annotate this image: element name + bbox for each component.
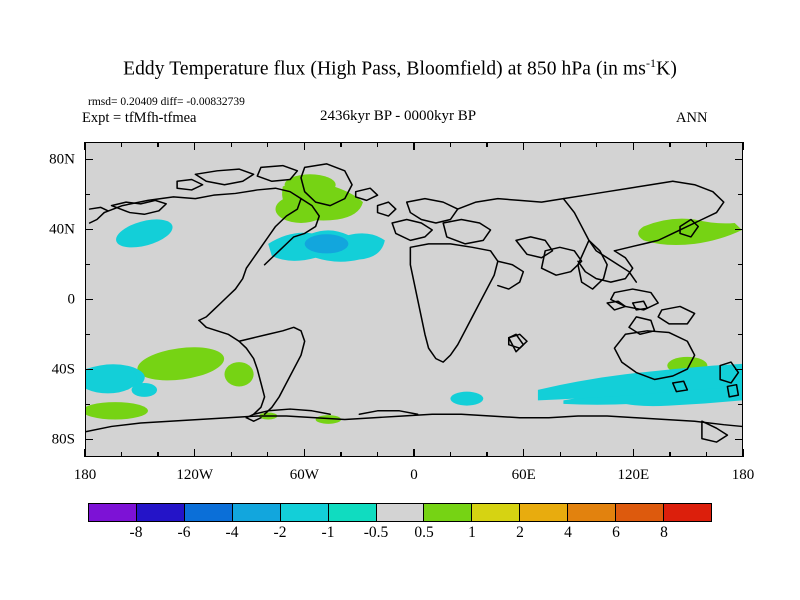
colorbar-tick-label: 0.5 bbox=[414, 524, 433, 542]
y-axis-label: 0 bbox=[68, 291, 76, 308]
colorbar-tick-label: 4 bbox=[564, 524, 572, 542]
colorbar-tick-label: -2 bbox=[274, 524, 287, 542]
x-axis-tick bbox=[340, 452, 341, 457]
x-axis-tick bbox=[450, 142, 451, 147]
x-axis-label: 60E bbox=[512, 467, 536, 484]
y-axis-tick bbox=[738, 264, 743, 265]
y-axis-tick bbox=[85, 404, 90, 405]
x-axis-tick bbox=[84, 142, 85, 150]
colorbar-segment[interactable] bbox=[184, 504, 232, 521]
map-plot-area bbox=[85, 142, 743, 457]
y-axis-tick bbox=[735, 299, 743, 300]
period-annotation: 2436kyr BP - 0000kyr BP bbox=[320, 108, 476, 125]
x-axis-tick bbox=[304, 449, 305, 457]
x-axis-label: 60W bbox=[290, 467, 319, 484]
colorbar-segment[interactable] bbox=[328, 504, 376, 521]
x-axis-tick bbox=[377, 452, 378, 457]
experiment-annotation: Expt = tfMfh-tfmea bbox=[82, 110, 196, 127]
colorbar-segment[interactable] bbox=[423, 504, 471, 521]
y-axis-tick bbox=[735, 229, 743, 230]
x-axis-tick bbox=[304, 142, 305, 150]
x-axis-tick bbox=[121, 142, 122, 147]
y-axis-tick bbox=[735, 369, 743, 370]
title-main: Eddy Temperature flux (High Pass, Bloomf… bbox=[123, 59, 646, 80]
y-axis-tick bbox=[85, 439, 93, 440]
x-axis-label: 0 bbox=[410, 467, 418, 484]
colorbar-segment[interactable] bbox=[280, 504, 328, 521]
y-axis-tick bbox=[85, 334, 90, 335]
x-axis-tick bbox=[377, 142, 378, 147]
y-axis-label: 40S bbox=[52, 361, 75, 378]
x-axis-tick bbox=[267, 142, 268, 147]
colorbar-tick-label: 2 bbox=[516, 524, 524, 542]
x-axis-tick bbox=[486, 142, 487, 147]
x-axis-label: 180 bbox=[732, 467, 755, 484]
y-axis-tick bbox=[738, 334, 743, 335]
y-axis-tick bbox=[85, 299, 93, 300]
x-axis-label: 120W bbox=[176, 467, 213, 484]
colorbar-tick-label: -0.5 bbox=[364, 524, 389, 542]
title-superscript: -1 bbox=[646, 56, 656, 70]
x-axis-tick bbox=[267, 452, 268, 457]
colorbar-segment[interactable] bbox=[471, 504, 519, 521]
colorbar-segment[interactable] bbox=[663, 504, 711, 521]
x-axis-label: 120E bbox=[617, 467, 649, 484]
x-axis-tick bbox=[669, 452, 670, 457]
colorbar-segment[interactable] bbox=[615, 504, 663, 521]
x-axis-tick bbox=[157, 142, 158, 147]
x-axis-tick bbox=[231, 452, 232, 457]
x-axis-tick bbox=[450, 452, 451, 457]
title-tail: K) bbox=[656, 59, 677, 80]
season-annotation: ANN bbox=[676, 110, 707, 127]
colorbar-segment[interactable] bbox=[519, 504, 567, 521]
x-axis-tick bbox=[742, 449, 743, 457]
x-axis-tick bbox=[194, 142, 195, 150]
x-axis-tick bbox=[486, 452, 487, 457]
x-axis-tick bbox=[596, 142, 597, 147]
page-title: Eddy Temperature flux (High Pass, Bloomf… bbox=[0, 56, 800, 81]
colorbar-tick-label: -1 bbox=[322, 524, 335, 542]
filled-contour-regions bbox=[86, 174, 742, 424]
y-axis-label: 80N bbox=[49, 151, 75, 168]
colorbar-segment[interactable] bbox=[567, 504, 615, 521]
x-axis-tick bbox=[706, 142, 707, 147]
x-axis-tick bbox=[633, 449, 634, 457]
colorbar-tick-label: 8 bbox=[660, 524, 668, 542]
y-axis-label: 40N bbox=[49, 221, 75, 238]
x-axis-tick bbox=[231, 142, 232, 147]
colorbar-tick-label: 6 bbox=[612, 524, 620, 542]
y-axis-tick bbox=[738, 194, 743, 195]
x-axis-tick bbox=[340, 142, 341, 147]
x-axis-tick bbox=[633, 142, 634, 150]
y-axis-tick bbox=[738, 404, 743, 405]
colorbar-segment[interactable] bbox=[89, 504, 136, 521]
world-map-svg bbox=[86, 143, 742, 456]
x-axis-tick bbox=[742, 142, 743, 150]
x-axis-tick bbox=[157, 452, 158, 457]
colorbar-segment[interactable] bbox=[232, 504, 280, 521]
x-axis-tick bbox=[413, 142, 414, 150]
x-axis-tick bbox=[194, 449, 195, 457]
colorbar-tick-label: -4 bbox=[226, 524, 239, 542]
y-axis-tick bbox=[85, 264, 90, 265]
x-axis-tick bbox=[121, 452, 122, 457]
x-axis-tick bbox=[669, 142, 670, 147]
x-axis-label: 180 bbox=[74, 467, 97, 484]
y-axis-tick bbox=[735, 439, 743, 440]
colorbar-segment[interactable] bbox=[136, 504, 184, 521]
x-axis-tick bbox=[706, 452, 707, 457]
x-axis-tick bbox=[523, 142, 524, 150]
x-axis-tick bbox=[84, 449, 85, 457]
y-axis-tick bbox=[735, 159, 743, 160]
y-axis-tick bbox=[85, 229, 93, 230]
y-axis-tick bbox=[85, 159, 93, 160]
colorbar-tick-label: 1 bbox=[468, 524, 476, 542]
colorbar[interactable] bbox=[88, 503, 712, 522]
colorbar-tick-label: -6 bbox=[178, 524, 191, 542]
x-axis-tick bbox=[413, 449, 414, 457]
y-axis-label: 80S bbox=[52, 431, 75, 448]
figure-canvas: Eddy Temperature flux (High Pass, Bloomf… bbox=[0, 0, 800, 600]
x-axis-tick bbox=[560, 452, 561, 457]
stats-annotation: rmsd= 0.20409 diff= -0.00832739 bbox=[88, 96, 245, 108]
y-axis-tick bbox=[85, 369, 93, 370]
colorbar-segment[interactable] bbox=[376, 504, 424, 521]
colorbar-tick-label: -8 bbox=[130, 524, 143, 542]
x-axis-tick bbox=[523, 449, 524, 457]
x-axis-tick bbox=[596, 452, 597, 457]
y-axis-tick bbox=[85, 194, 90, 195]
x-axis-tick bbox=[560, 142, 561, 147]
